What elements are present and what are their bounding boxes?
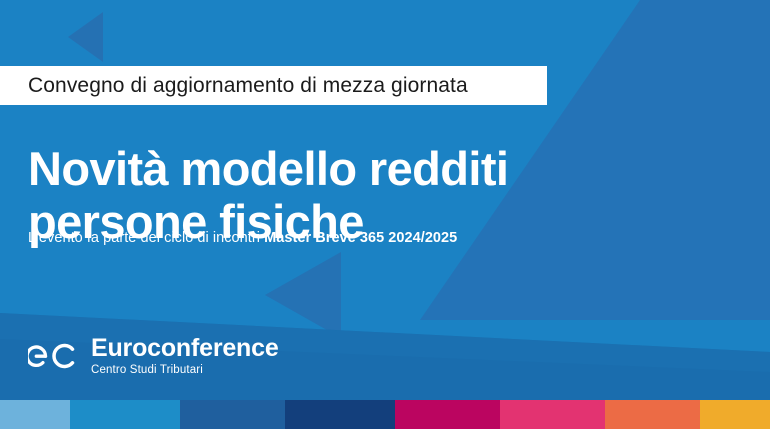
- logo-name: Euroconference: [91, 336, 279, 361]
- color-strip-segment-orange: [605, 400, 700, 429]
- color-strip-segment-light-blue: [0, 400, 70, 429]
- color-strip-segment-medium-blue: [180, 400, 285, 429]
- color-strip-segment-navy-blue: [285, 400, 395, 429]
- color-strip-segment-yellow: [700, 400, 770, 429]
- subtitle: L'evento fa parte del ciclo di incontri …: [28, 230, 457, 246]
- headline-line-1: Novità modello redditi: [28, 143, 628, 196]
- logo-tagline: Centro Studi Tributari: [91, 365, 279, 377]
- subtitle-series-name: Master Breve 365 2024/2025: [264, 230, 457, 246]
- color-strip-segment-pink: [500, 400, 605, 429]
- logo-wordmark: Euroconference Centro Studi Tributari: [91, 336, 279, 377]
- logo: Euroconference Centro Studi Tributari: [28, 336, 279, 377]
- eyebrow-text: Convegno di aggiornamento di mezza giorn…: [0, 75, 468, 96]
- color-strip: [0, 400, 770, 429]
- color-strip-segment-sky-blue: [70, 400, 180, 429]
- color-strip-segment-magenta: [395, 400, 500, 429]
- eyebrow-band: Convegno di aggiornamento di mezza giorn…: [0, 66, 547, 105]
- subtitle-lead-text: L'evento fa parte del ciclo di incontri: [28, 230, 264, 246]
- ec-monogram-icon: [28, 340, 82, 372]
- event-banner: Convegno di aggiornamento di mezza giorn…: [0, 0, 770, 429]
